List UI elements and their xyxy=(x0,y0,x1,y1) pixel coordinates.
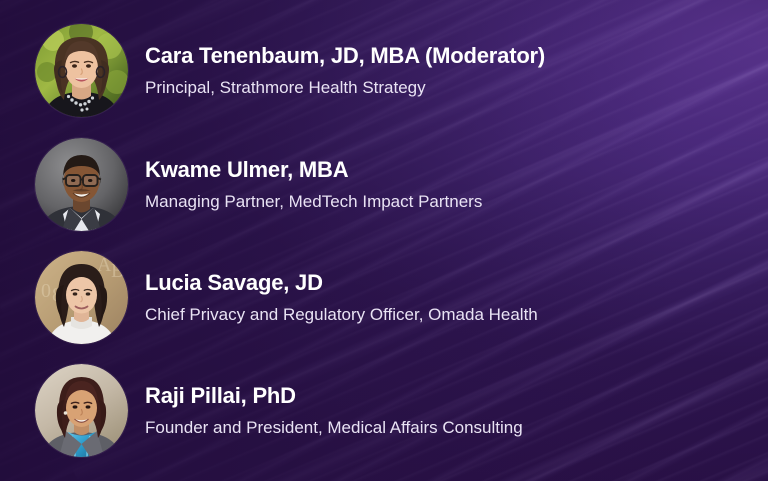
panelist-title: Managing Partner, MedTech Impact Partner… xyxy=(145,192,482,212)
panelist-meta: Cara Tenenbaum, JD, MBA (Moderator) Prin… xyxy=(145,44,545,98)
panelist-name: Raji Pillai, PhD xyxy=(145,384,523,408)
avatar xyxy=(35,138,128,231)
panelist-slide: Cara Tenenbaum, JD, MBA (Moderator) Prin… xyxy=(0,0,768,481)
avatar xyxy=(35,24,128,117)
panelist-name: Lucia Savage, JD xyxy=(145,271,538,295)
panelist-title: Principal, Strathmore Health Strategy xyxy=(145,78,545,98)
panelist-meta: Raji Pillai, PhD Founder and President, … xyxy=(145,384,523,438)
panelist-meta: Kwame Ulmer, MBA Managing Partner, MedTe… xyxy=(145,158,482,212)
avatar xyxy=(35,364,128,457)
panelist-list: Cara Tenenbaum, JD, MBA (Moderator) Prin… xyxy=(0,0,768,481)
panelist-row: Raji Pillai, PhD Founder and President, … xyxy=(35,364,523,457)
svg-text:0: 0 xyxy=(41,280,51,302)
panelist-meta: Lucia Savage, JD Chief Privacy and Regul… xyxy=(145,271,538,325)
panelist-name: Kwame Ulmer, MBA xyxy=(145,158,482,182)
avatar: 08 AB xyxy=(35,251,128,344)
svg-text:B: B xyxy=(111,260,124,282)
panelist-row: 08 AB xyxy=(35,251,538,344)
panelist-title: Chief Privacy and Regulatory Officer, Om… xyxy=(145,305,538,325)
panelist-row: Kwame Ulmer, MBA Managing Partner, MedTe… xyxy=(35,138,482,231)
panelist-title: Founder and President, Medical Affairs C… xyxy=(145,418,523,438)
panelist-name: Cara Tenenbaum, JD, MBA (Moderator) xyxy=(145,44,545,68)
panelist-row: Cara Tenenbaum, JD, MBA (Moderator) Prin… xyxy=(35,24,545,117)
